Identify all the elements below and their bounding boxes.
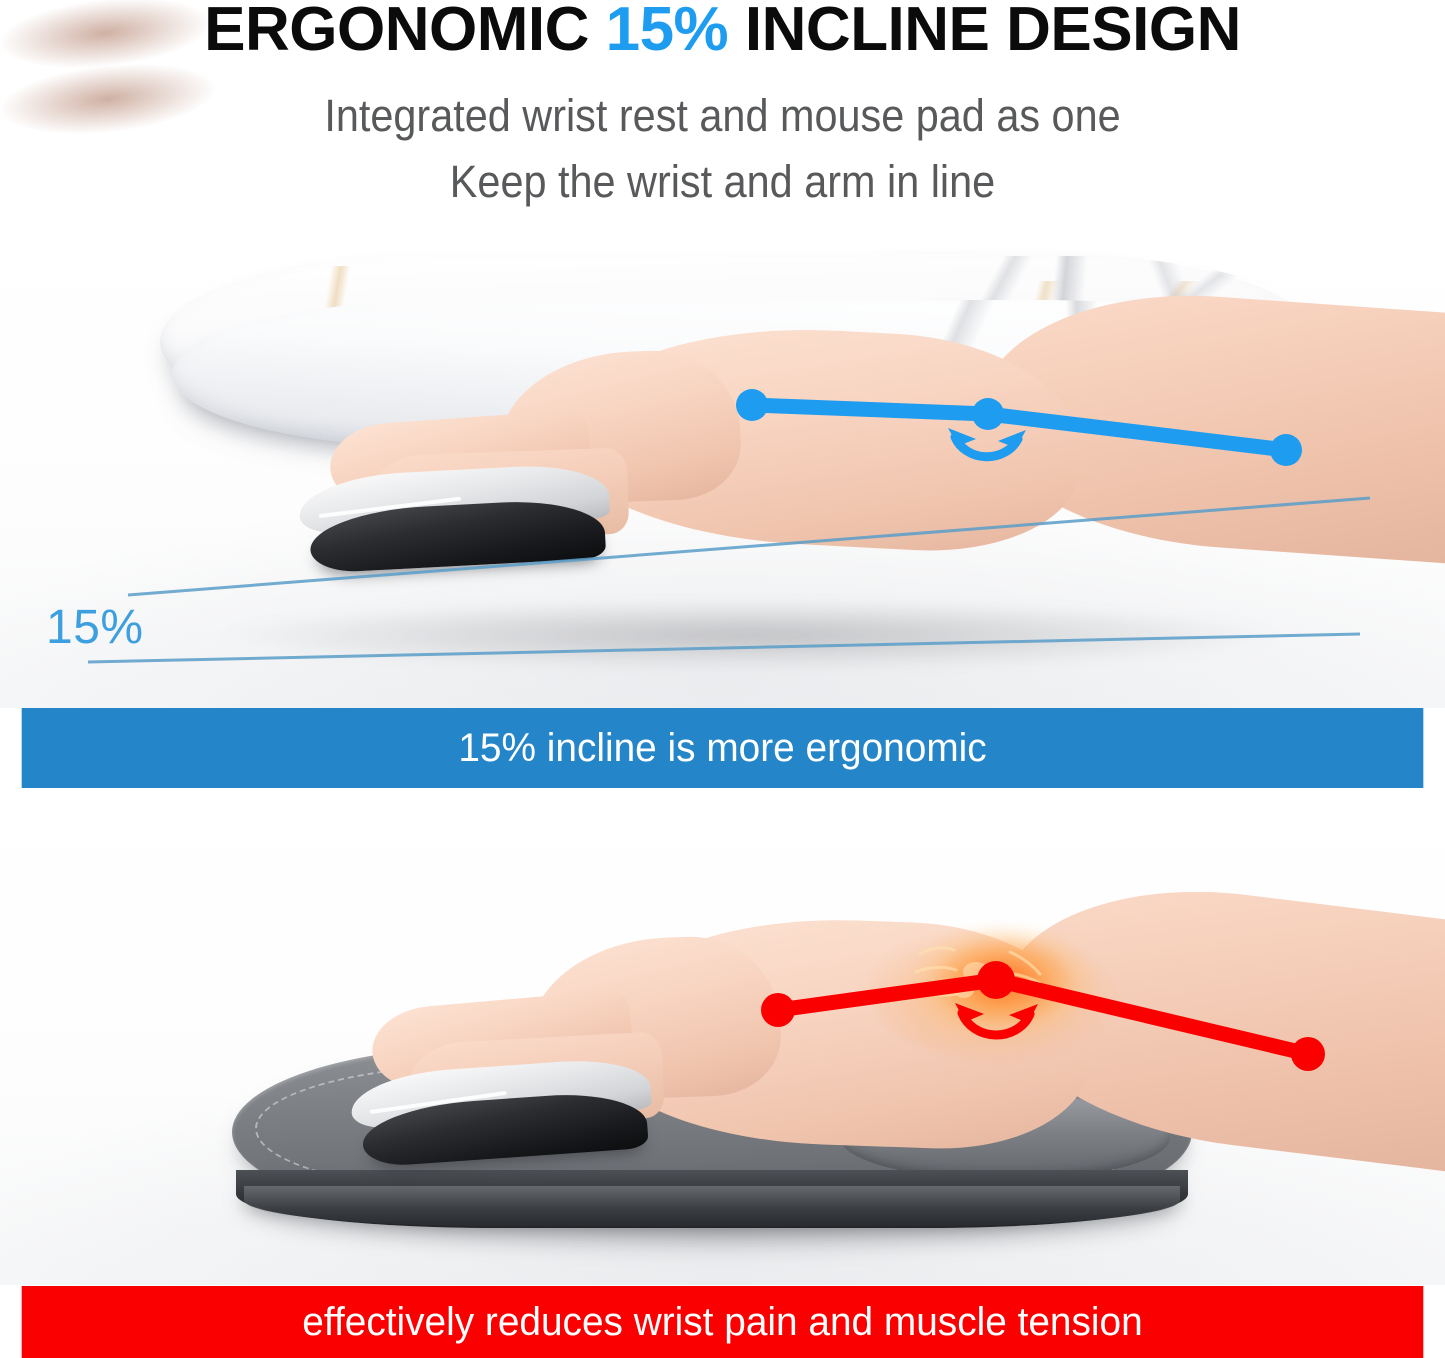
mouse-device-top — [298, 462, 613, 574]
subtitle-line-2: Keep the wrist and arm in line — [58, 158, 1387, 206]
headline-part-2: INCLINE DESIGN — [728, 0, 1241, 64]
banner-blue-text: 15% incline is more ergonomic — [458, 726, 986, 771]
pad-shadow-top — [210, 600, 1290, 670]
wrist-bone-overlay-icon — [890, 928, 1080, 1038]
page-title: ERGONOMIC 15% INCLINE DESIGN — [0, 0, 1445, 64]
banner-ergonomic-caption: 15% incline is more ergonomic — [22, 708, 1424, 788]
subtitle-line-1: Integrated wrist rest and mouse pad as o… — [58, 92, 1387, 140]
headline-part-1: ERGONOMIC — [204, 0, 605, 64]
incline-angle-label: 15% — [46, 600, 144, 655]
banner-red-text: effectively reduces wrist pain and muscl… — [302, 1300, 1142, 1345]
infographic-page: ERGONOMIC 15% INCLINE DESIGN Integrated … — [0, 0, 1445, 1358]
banner-pain-reduction-caption: effectively reduces wrist pain and muscl… — [22, 1286, 1424, 1358]
headline-accent-15-percent: 15% — [606, 0, 729, 64]
header-block: ERGONOMIC 15% INCLINE DESIGN Integrated … — [0, 0, 1445, 232]
gray-pad-base-layer — [244, 1186, 1180, 1226]
